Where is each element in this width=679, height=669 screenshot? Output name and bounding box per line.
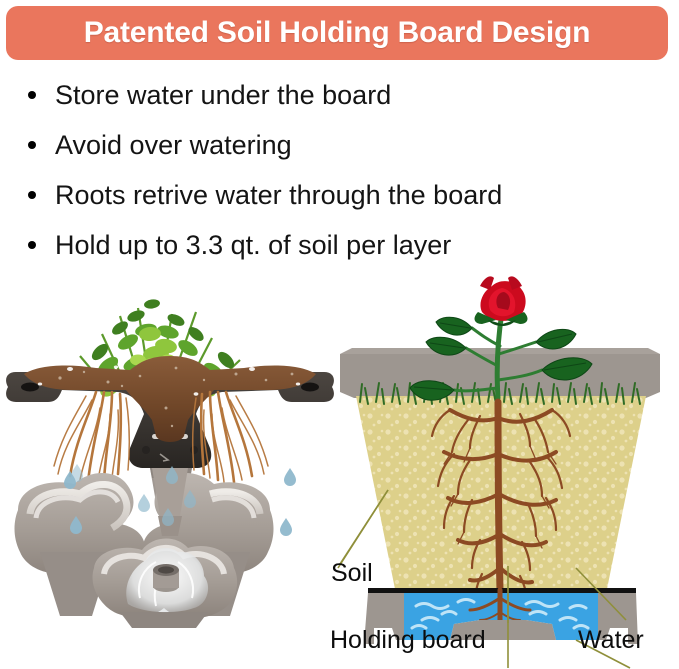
illustration-area: [0, 268, 679, 669]
feature-list: Store water under the board Avoid over w…: [22, 70, 662, 270]
label-holding-board: Holding board: [330, 626, 486, 655]
feature-text: Store water under the board: [55, 80, 391, 110]
page-title: Patented Soil Holding Board Design: [84, 16, 591, 50]
feature-text: Roots retrive water through the board: [55, 180, 502, 210]
feature-text: Avoid over watering: [55, 130, 292, 160]
bullet-icon: [28, 91, 36, 99]
soil-holding-board-photo: [0, 268, 340, 628]
list-item: Store water under the board: [22, 70, 662, 120]
list-item: Hold up to 3.3 qt. of soil per layer: [22, 220, 662, 270]
bullet-icon: [28, 191, 36, 199]
bullet-icon: [28, 241, 36, 249]
planter-cross-section-diagram: [330, 268, 679, 669]
label-water: Water: [578, 626, 644, 655]
list-item: Avoid over watering: [22, 120, 662, 170]
rose-flower: [475, 276, 528, 326]
tiered-planter: [15, 468, 274, 628]
header-banner: Patented Soil Holding Board Design: [6, 6, 668, 60]
list-item: Roots retrive water through the board: [22, 170, 662, 220]
bullet-icon: [28, 141, 36, 149]
feature-text: Hold up to 3.3 qt. of soil per layer: [55, 230, 451, 260]
label-soil: Soil: [331, 559, 373, 588]
soil-leader-line: [338, 490, 388, 568]
